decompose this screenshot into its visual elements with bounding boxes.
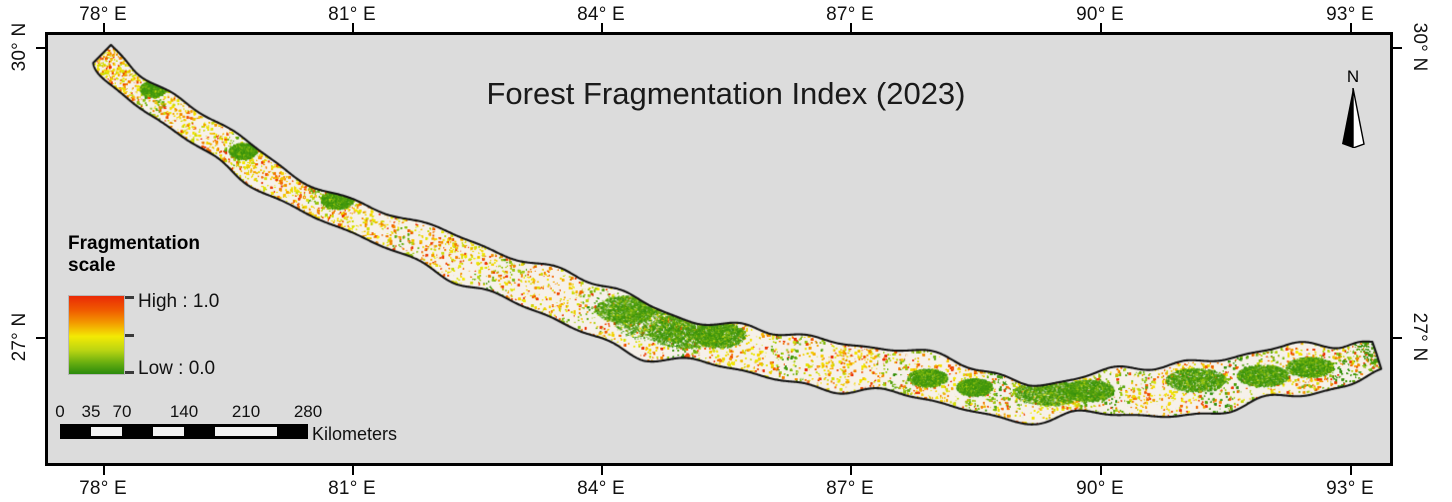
north-arrow-icon [1339,88,1367,148]
lat-label-right: 27° N [1408,313,1430,362]
scale-bar-tick-label: 140 [170,402,198,422]
scale-bar-tick-label: 280 [294,402,322,422]
lon-label-bottom: 78° E [79,478,127,500]
lon-label-top: 90° E [1076,4,1124,26]
ramp-tick-high [125,296,134,299]
map-figure: 78° E78° E81° E81° E84° E84° E87° E87° E… [0,0,1452,502]
scale-bar: 03570140210280 Kilometers [60,402,400,422]
lon-tick-bottom [352,466,354,475]
lat-tick-left [36,47,45,49]
legend-title-line1: Fragmentation [68,233,243,255]
scale-bar-tick-label: 70 [113,402,132,422]
lon-tick-bottom [103,466,105,475]
legend-title: Fragmentation scale [68,233,243,278]
lon-tick-bottom [1100,466,1102,475]
lon-label-bottom: 87° E [826,478,874,500]
legend-color-ramp [68,295,125,375]
ramp-tick-mid [125,334,134,337]
legend-title-line2: scale [68,255,243,277]
lat-label-left: 30° N [9,23,31,72]
scale-bar-units: Kilometers [312,424,397,445]
lat-tick-right [1393,337,1402,339]
north-arrow-label: N [1347,68,1359,85]
lon-label-top: 84° E [577,4,625,26]
lon-tick-bottom [601,466,603,475]
legend-color-ramp-group: High : 1.0 Low : 0.0 [68,295,248,380]
legend-high-label: High : 1.0 [138,291,219,313]
north-arrow: N [1331,68,1375,150]
legend-low-label: Low : 0.0 [138,358,215,380]
page-title: Forest Fragmentation Index (2023) [486,76,965,112]
lon-label-bottom: 93° E [1326,478,1374,500]
scale-bar-segment [91,427,122,436]
lon-label-bottom: 90° E [1076,478,1124,500]
lat-label-right: 30° N [1408,23,1430,72]
legend: Fragmentation scale High : 1.0 Low : 0.0 [68,233,318,278]
scale-bar-segment [215,427,277,436]
lon-tick-bottom [850,466,852,475]
scale-bar-ticks: 03570140210280 [60,402,400,422]
ramp-tick-low [125,371,134,374]
lon-label-top: 93° E [1326,4,1374,26]
scale-bar-tick-label: 0 [55,402,64,422]
scale-bar-segment [153,427,184,436]
lon-label-bottom: 84° E [577,478,625,500]
lat-label-left: 27° N [9,313,31,362]
lon-label-top: 87° E [826,4,874,26]
scale-bar-tick-label: 35 [82,402,101,422]
lon-label-bottom: 81° E [328,478,376,500]
lat-tick-left [36,337,45,339]
lon-label-top: 78° E [79,4,127,26]
scale-bar-tick-label: 210 [232,402,260,422]
lat-tick-right [1393,47,1402,49]
lon-label-top: 81° E [328,4,376,26]
lon-tick-bottom [1350,466,1352,475]
scale-bar-track [60,424,308,439]
